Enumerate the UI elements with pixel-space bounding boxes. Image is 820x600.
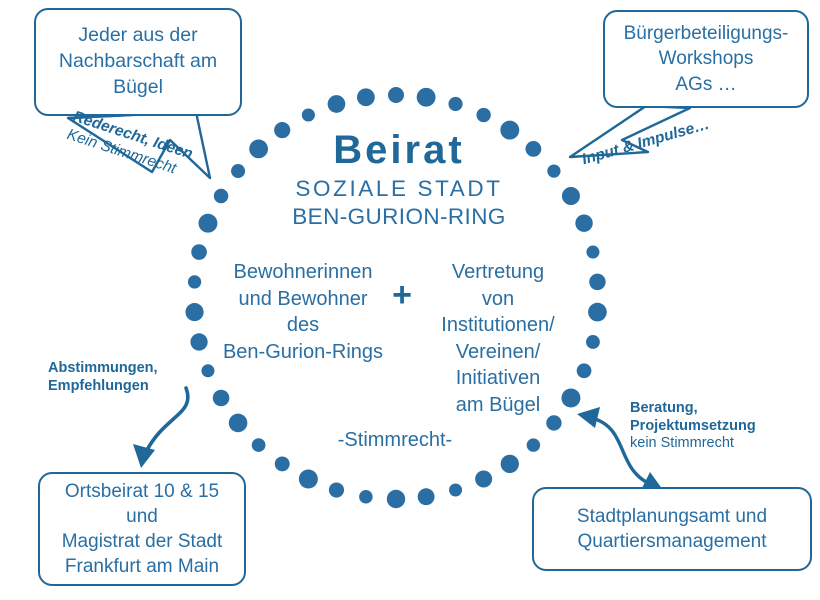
- diagram-canvas: Jeder aus der Nachbarschaft am Bügel Bür…: [0, 0, 820, 600]
- ring-dot: [191, 244, 207, 260]
- ring-dot: [252, 438, 266, 452]
- callout-participation-line-3: AGs …: [605, 72, 807, 97]
- residents-line-1: Bewohnerinnen: [234, 261, 373, 283]
- institutions-line-5: Initiativen: [456, 367, 541, 389]
- ring-dot: [359, 490, 373, 504]
- box-ortsbeirat-magistrat[interactable]: Ortsbeirat 10 & 15 und Magistrat der Sta…: [38, 472, 246, 586]
- members-institutions-column: Vertretung von Institutionen/ Vereinen/ …: [417, 259, 579, 419]
- ring-dot: [575, 214, 592, 231]
- annotation-abstimmungen: Abstimmungen, Empfehlungen: [48, 360, 208, 395]
- residents-line-4: Ben-Gurion-Rings: [223, 341, 383, 363]
- annotation-abstimmungen-line-1: Abstimmungen,: [48, 360, 208, 378]
- callout-neighbourhood-line-3: Bügel: [36, 75, 240, 101]
- annotation-beratung-line-1: Beratung,: [630, 400, 805, 418]
- ring-dot: [476, 108, 490, 122]
- callout-neighbourhood-line-2: Nachbarschaft am: [36, 49, 240, 75]
- box-ortsbeirat-line-2: und: [40, 504, 244, 529]
- ring-dot: [357, 88, 375, 106]
- annotation-abstimmungen-line-2: Empfehlungen: [48, 378, 208, 396]
- ring-dot: [185, 303, 203, 321]
- ring-dot: [188, 275, 201, 288]
- ring-dot: [229, 414, 248, 433]
- residents-line-2: und Bewohner: [239, 288, 368, 310]
- residents-line-3: des: [287, 314, 319, 336]
- callout-participation-line-2: Workshops: [605, 46, 807, 71]
- annotation-beratung-line-3: kein Stimmrecht: [630, 435, 805, 453]
- ring-dot: [449, 484, 462, 497]
- annotation-beratung: Beratung, Projektumsetzung kein Stimmrec…: [630, 400, 805, 453]
- ring-dot: [586, 246, 599, 259]
- institutions-line-4: Vereinen/: [456, 341, 541, 363]
- ring-dot: [329, 482, 344, 497]
- arrow-abstimmungen: [133, 388, 188, 468]
- ring-dot: [448, 97, 462, 111]
- ring-dot: [418, 488, 435, 505]
- page-title: Beirat: [268, 128, 530, 173]
- callout-neighbourhood[interactable]: Jeder aus der Nachbarschaft am Bügel: [34, 8, 242, 116]
- institutions-line-2: von: [482, 288, 514, 310]
- subtitle-ben-gurion-ring: BEN-GURION-RING: [263, 204, 535, 230]
- institutions-line-1: Vertretung: [452, 261, 544, 283]
- ring-dot: [328, 95, 346, 113]
- ring-dot: [547, 164, 560, 177]
- box-ortsbeirat-line-1: Ortsbeirat 10 & 15: [40, 479, 244, 504]
- institutions-line-3: Institutionen/: [441, 314, 554, 336]
- ring-dot: [589, 274, 605, 290]
- ring-dot: [586, 335, 600, 349]
- ring-dot: [501, 455, 519, 473]
- ring-dot: [299, 470, 318, 489]
- annotation-beratung-line-2: Projektumsetzung: [630, 418, 805, 436]
- box-ortsbeirat-line-3: Magistrat der Stadt: [40, 529, 244, 554]
- box-ortsbeirat-line-4: Frankfurt am Main: [40, 554, 244, 579]
- ring-dot: [190, 333, 207, 350]
- voting-rights-label: -Stimmrecht-: [300, 429, 490, 452]
- subtitle-soziale-stadt: SOZIALE STADT: [268, 176, 530, 202]
- ring-dot: [213, 390, 230, 407]
- ring-dot: [302, 108, 315, 121]
- box-stadtplanung-line-1: Stadtplanungsamt und: [534, 504, 810, 529]
- ring-dot: [475, 470, 492, 487]
- box-stadtplanung-line-2: Quartiersmanagement: [534, 529, 810, 554]
- box-stadtplanungsamt[interactable]: Stadtplanungsamt und Quartiersmanagement: [532, 487, 812, 571]
- ring-dot: [588, 303, 607, 322]
- callout-neighbourhood-line-1: Jeder aus der: [36, 23, 240, 49]
- ring-dot: [387, 490, 405, 508]
- callout-participation[interactable]: Bürgerbeteiligungs- Workshops AGs …: [603, 10, 809, 108]
- ring-dot: [527, 438, 540, 451]
- institutions-line-6: am Bügel: [456, 394, 541, 416]
- ring-dot: [417, 88, 436, 107]
- ring-dot: [388, 87, 404, 103]
- ring-dot: [249, 140, 268, 159]
- callout-participation-line-1: Bürgerbeteiligungs-: [605, 21, 807, 46]
- members-residents-column: Bewohnerinnen und Bewohner des Ben-Gurio…: [213, 259, 393, 365]
- ring-dot: [562, 187, 580, 205]
- ring-dot: [275, 456, 290, 471]
- ring-dot: [198, 214, 217, 233]
